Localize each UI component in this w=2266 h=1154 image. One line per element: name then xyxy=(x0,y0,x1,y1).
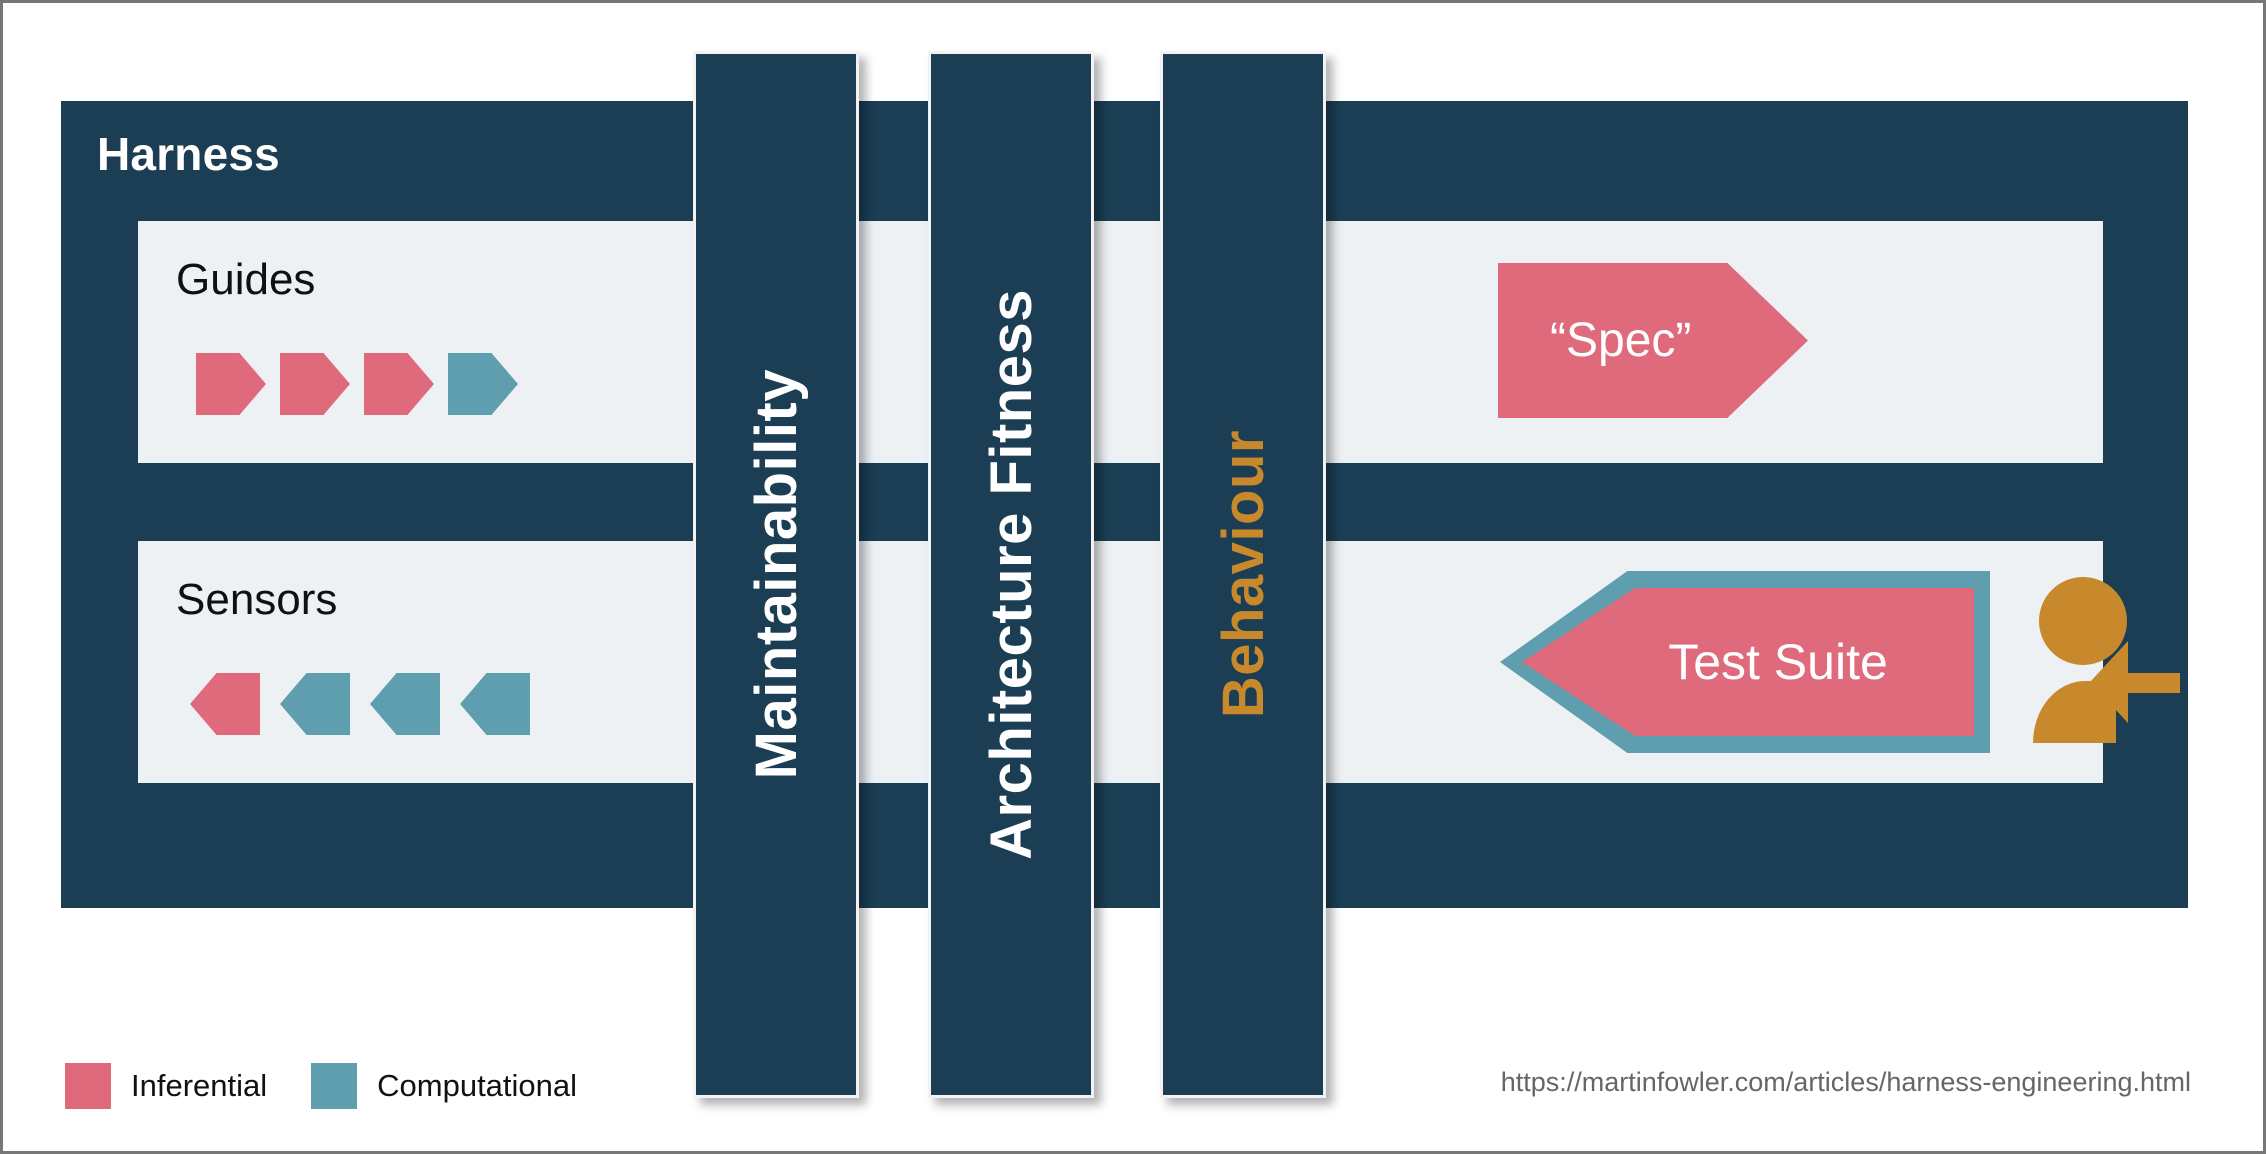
chevron-guides-inferential-3 xyxy=(364,353,434,415)
legend: Inferential Computational xyxy=(65,1063,577,1109)
legend-item-inferential: Inferential xyxy=(65,1063,267,1109)
chevron-sensors-computational-1 xyxy=(280,673,350,735)
sensors-chevron-row xyxy=(190,673,530,735)
chevron-sensors-computational-2 xyxy=(370,673,440,735)
harness-panel: Harness Guides “Spec” Sensors xyxy=(61,101,2188,908)
test-suite-arrow-fill: Test Suite xyxy=(1522,588,1974,736)
spec-arrow-label: “Spec” xyxy=(1550,313,1691,368)
person-with-left-arrow-icon xyxy=(2028,573,2188,748)
chevron-guides-computational-1 xyxy=(448,353,518,415)
pillar-behaviour-label: Behaviour xyxy=(1210,430,1277,718)
chevron-guides-inferential-2 xyxy=(280,353,350,415)
legend-item-computational: Computational xyxy=(311,1063,577,1109)
chevron-guides-inferential-1 xyxy=(196,353,266,415)
test-suite-label: Test Suite xyxy=(1608,633,1888,691)
diagram-canvas: Harness Guides “Spec” Sensors xyxy=(0,0,2266,1154)
lane-guides-label: Guides xyxy=(176,255,315,305)
chevron-sensors-inferential-1 xyxy=(190,673,260,735)
pillar-behaviour[interactable]: Behaviour xyxy=(1160,51,1326,1098)
legend-label-computational: Computational xyxy=(377,1068,577,1104)
chevron-sensors-computational-3 xyxy=(460,673,530,735)
legend-swatch-computational-icon xyxy=(311,1063,357,1109)
spec-arrow: “Spec” xyxy=(1498,263,1808,418)
lane-guides: Guides “Spec” xyxy=(138,221,2103,463)
page-title: Harness xyxy=(97,127,280,181)
legend-label-inferential: Inferential xyxy=(131,1068,267,1104)
source-url[interactable]: https://martinfowler.com/articles/harnes… xyxy=(1501,1067,2191,1098)
legend-swatch-inferential-icon xyxy=(65,1063,111,1109)
pillar-architecture-fitness[interactable]: Architecture Fitness xyxy=(928,51,1094,1098)
lane-sensors-label: Sensors xyxy=(176,575,337,625)
pillar-architecture-fitness-label: Architecture Fitness xyxy=(978,289,1045,860)
lane-sensors: Sensors Test Suite xyxy=(138,541,2103,783)
pillar-maintainability-label: Maintainability xyxy=(743,369,810,779)
pillar-maintainability[interactable]: Maintainability xyxy=(693,51,859,1098)
guides-chevron-row xyxy=(196,353,518,415)
test-suite-arrow: Test Suite xyxy=(1500,571,1990,753)
